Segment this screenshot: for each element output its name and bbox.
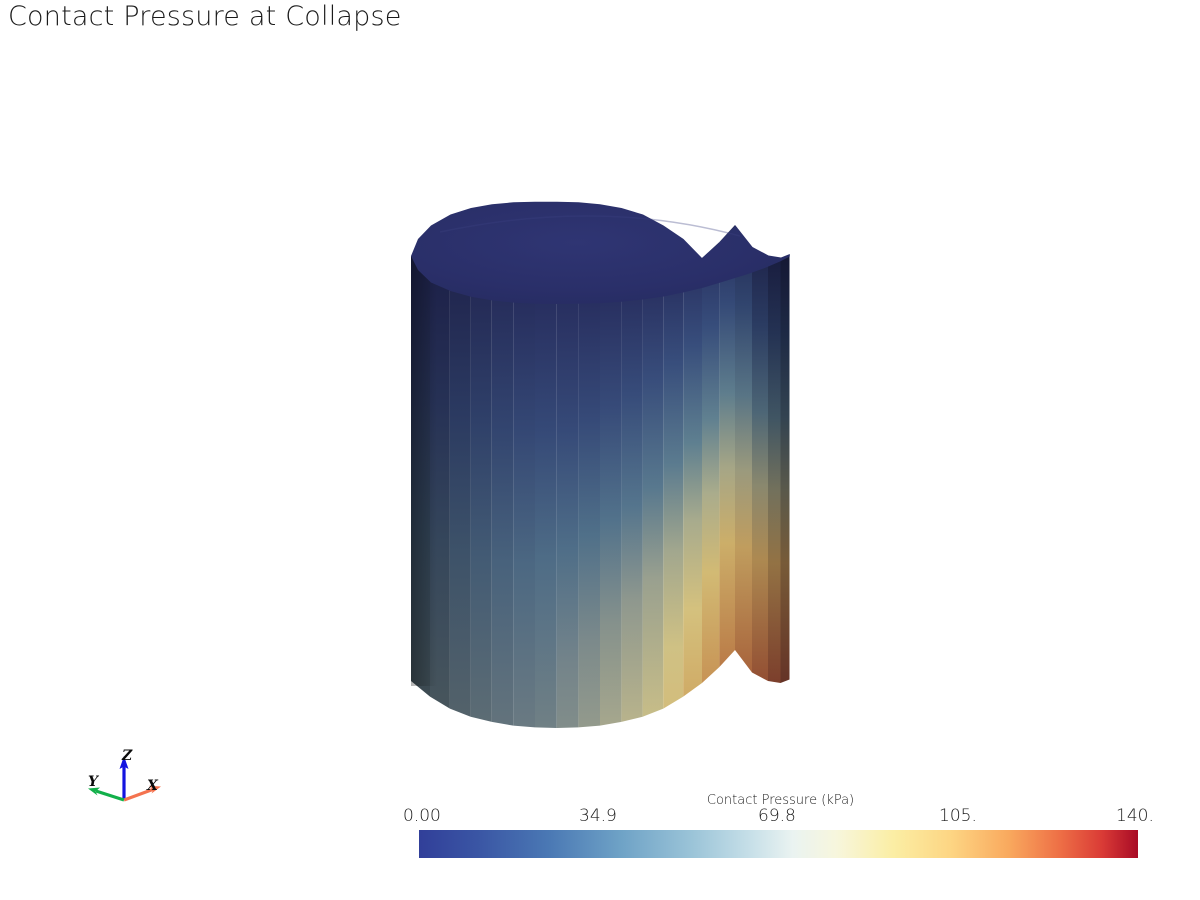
colorbar-tick-label-1: 34.9 bbox=[579, 806, 617, 826]
render-viewport[interactable]: Contact Pressure at Collapse bbox=[0, 0, 1200, 780]
colorbar-tick-label-0: 0.00 bbox=[403, 806, 441, 826]
orientation-axes-widget[interactable]: Z Y X bbox=[60, 742, 195, 837]
colorbar-tick-label-3: 105. bbox=[939, 806, 977, 826]
colorbar-tick-label-2: 69.8 bbox=[758, 806, 796, 826]
axis-label-z: Z bbox=[122, 749, 132, 763]
axis-label-x: X bbox=[147, 779, 158, 793]
axis-label-y: Y bbox=[88, 775, 98, 789]
colorbar[interactable] bbox=[419, 830, 1138, 858]
cylinder-mesh[interactable] bbox=[0, 0, 1200, 780]
colorbar-tick-label-4: 140. bbox=[1116, 806, 1154, 826]
rim-shading bbox=[411, 256, 437, 686]
colorbar-gradient bbox=[419, 830, 1138, 858]
